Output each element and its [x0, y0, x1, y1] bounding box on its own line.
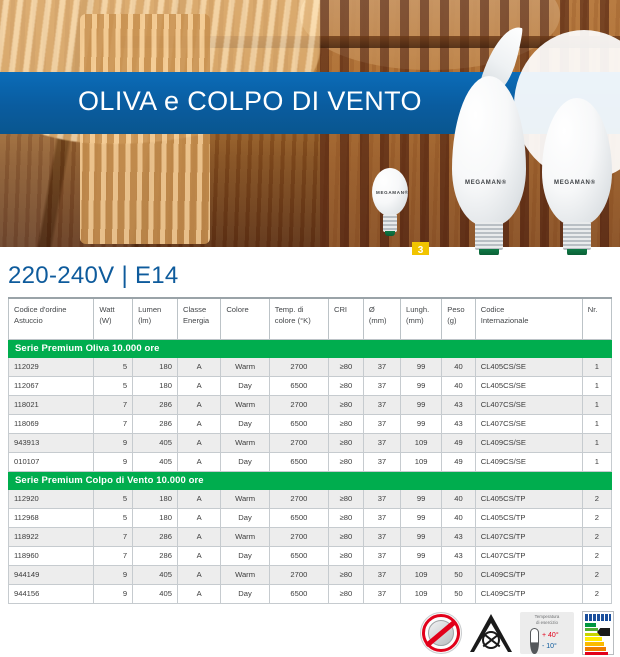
table-cell: 2700 [269, 565, 328, 584]
table-cell: 99 [400, 489, 441, 508]
table-cell: 6500 [269, 414, 328, 433]
table-cell: 180 [133, 376, 178, 395]
table-cell: 118922 [9, 527, 94, 546]
table-cell: Day [221, 584, 269, 603]
table-row: 1180217286AWarm2700≥80379943CL407CS/SE1 [9, 395, 612, 414]
table-cell: 37 [363, 489, 400, 508]
table-cell: A [177, 433, 220, 452]
table-cell: 118960 [9, 546, 94, 565]
table-cell: 50 [442, 565, 475, 584]
table-cell: 7 [94, 395, 133, 414]
table-cell: 118069 [9, 414, 94, 433]
table-column-header: CodiceInternazionale [475, 298, 582, 339]
table-cell: 1 [582, 452, 611, 471]
table-cell: 99 [400, 508, 441, 527]
table-cell: 9 [94, 565, 133, 584]
table-cell: 180 [133, 508, 178, 527]
table-cell: 2700 [269, 489, 328, 508]
table-cell: CL407CS/SE [475, 395, 582, 414]
table-row: 1129205180AWarm2700≥80379940CL405CS/TP2 [9, 489, 612, 508]
table-cell: CL409CS/SE [475, 433, 582, 452]
table-cell: A [177, 357, 220, 376]
header-line-1: Colore [226, 304, 263, 315]
table-cell: 1 [582, 357, 611, 376]
table-cell: 5 [94, 357, 133, 376]
table-cell: A [177, 395, 220, 414]
table-cell: 118021 [9, 395, 94, 414]
header-line-1: Watt [99, 304, 127, 315]
table-cell: 43 [442, 546, 475, 565]
energy-class-bar [585, 623, 596, 627]
energy-class-bar [585, 647, 606, 651]
temp-min-value: - 10° [542, 641, 559, 652]
table-cell: A [177, 489, 220, 508]
voltage-socket-title: 220-240V | E14 [8, 262, 179, 290]
table-cell: A [177, 414, 220, 433]
section-title: Serie Premium Oliva 10.000 ore [9, 339, 612, 357]
table-cell: Warm [221, 395, 269, 414]
table-cell: A [177, 452, 220, 471]
table-cell: CL407CS/TP [475, 527, 582, 546]
header-line-1: Codice [481, 304, 577, 315]
table-cell: 7 [94, 414, 133, 433]
table-cell: 40 [442, 489, 475, 508]
table-section-header-row: Serie Premium Colpo di Vento 10.000 ore [9, 471, 612, 489]
table-cell: 37 [363, 433, 400, 452]
table-cell: ≥80 [328, 489, 363, 508]
table-cell: 944156 [9, 584, 94, 603]
table-row: 1180697286ADay6500≥80379943CL407CS/SE1 [9, 414, 612, 433]
table-cell: 112029 [9, 357, 94, 376]
energy-class-bar [585, 637, 602, 641]
table-cell: 9 [94, 433, 133, 452]
table-cell: A [177, 527, 220, 546]
table-cell: CL407CS/TP [475, 546, 582, 565]
table-cell: Warm [221, 357, 269, 376]
table-cell: ≥80 [328, 508, 363, 527]
table-cell: 50 [442, 584, 475, 603]
header-line-2: (mm) [369, 315, 395, 326]
page-title: OLIVA e COLPO DI VENTO [78, 86, 422, 117]
table-cell: 6500 [269, 508, 328, 527]
energy-class-bar [585, 628, 598, 632]
bulb-brand-label: MEGAMAN® [465, 180, 507, 186]
table-cell: 2700 [269, 395, 328, 414]
table-cell: ≥80 [328, 357, 363, 376]
table-cell: 2 [582, 565, 611, 584]
table-row: 0101079405ADay6500≥803710949CL409CS/SE1 [9, 452, 612, 471]
table-cell: Day [221, 546, 269, 565]
table-cell: A [177, 508, 220, 527]
table-cell: ≥80 [328, 584, 363, 603]
table-cell: 37 [363, 527, 400, 546]
table-cell: 2 [582, 508, 611, 527]
table-cell: ≥80 [328, 452, 363, 471]
table-column-header: Lumen(lm) [133, 298, 178, 339]
table-cell: 9 [94, 452, 133, 471]
table-cell: 43 [442, 527, 475, 546]
table-cell: 1 [582, 395, 611, 414]
table-cell: CL405CS/SE [475, 376, 582, 395]
bulb-screw-base [475, 222, 503, 250]
hero-bottom-spacer [0, 247, 620, 255]
product-table-wrapper: Codice d'ordineAstuccioWatt(W)Lumen(lm)C… [8, 297, 612, 604]
table-cell: 1 [582, 414, 611, 433]
table-cell: 7 [94, 527, 133, 546]
energy-class-bar [585, 633, 600, 637]
table-cell: 99 [400, 376, 441, 395]
table-cell: 2 [582, 489, 611, 508]
table-cell: 37 [363, 452, 400, 471]
table-cell: 112920 [9, 489, 94, 508]
table-cell: 405 [133, 452, 178, 471]
table-cell: 2 [582, 584, 611, 603]
table-cell: 99 [400, 414, 441, 433]
table-row: 1189227286AWarm2700≥80379943CL407CS/TP2 [9, 527, 612, 546]
table-cell: CL405CS/TP [475, 508, 582, 527]
temp-max-value: + 40° [542, 630, 559, 641]
table-cell: ≥80 [328, 546, 363, 565]
header-line-2: (g) [447, 315, 469, 326]
not-dimmable-icon [420, 612, 462, 654]
table-column-header: Ø(mm) [363, 298, 400, 339]
table-column-header: Temp. dicolore (°K) [269, 298, 328, 339]
table-cell: 37 [363, 546, 400, 565]
table-cell: 2700 [269, 433, 328, 452]
table-column-header: Codice d'ordineAstuccio [9, 298, 94, 339]
bulb-base-tip [479, 249, 499, 255]
table-row: 1189607286ADay6500≥80379943CL407CS/TP2 [9, 546, 612, 565]
table-cell: 37 [363, 414, 400, 433]
bulb-base-tip [385, 231, 395, 236]
header-line-1: Classe [183, 304, 215, 315]
table-cell: 2700 [269, 357, 328, 376]
table-column-header: Watt(W) [94, 298, 133, 339]
table-cell: 49 [442, 433, 475, 452]
table-cell: 112968 [9, 508, 94, 527]
table-cell: 010107 [9, 452, 94, 471]
operating-temperature-icon: Temperatura di esercizio + 40° - 10° [520, 612, 574, 654]
no-electronic-switch-icon [470, 612, 512, 654]
table-cell: ≥80 [328, 433, 363, 452]
header-line-1: Nr. [588, 304, 606, 315]
table-header-row: Codice d'ordineAstuccioWatt(W)Lumen(lm)C… [9, 298, 612, 339]
table-cell: 2700 [269, 527, 328, 546]
table-cell: 5 [94, 508, 133, 527]
energy-class-bar [585, 642, 604, 646]
table-cell: 37 [363, 357, 400, 376]
table-cell: ≥80 [328, 414, 363, 433]
table-cell: CL405CS/SE [475, 357, 582, 376]
table-cell: 49 [442, 452, 475, 471]
table-cell: Warm [221, 489, 269, 508]
table-cell: 40 [442, 376, 475, 395]
table-cell: 1 [582, 376, 611, 395]
table-column-header: Lungh.(mm) [400, 298, 441, 339]
table-cell: 5 [94, 489, 133, 508]
energy-label-icon [582, 611, 614, 655]
table-cell: 37 [363, 508, 400, 527]
bulb-screw-base [563, 222, 591, 250]
table-cell: 37 [363, 395, 400, 414]
header-line-1: Peso [447, 304, 469, 315]
table-cell: 99 [400, 546, 441, 565]
table-cell: 109 [400, 584, 441, 603]
table-cell: 405 [133, 565, 178, 584]
table-cell: ≥80 [328, 565, 363, 584]
table-cell: 6500 [269, 546, 328, 565]
table-section-header-row: Serie Premium Oliva 10.000 ore [9, 339, 612, 357]
table-cell: A [177, 565, 220, 584]
temp-caption-line2: di esercizio [536, 620, 558, 625]
table-cell: 2 [582, 527, 611, 546]
table-cell: 6500 [269, 452, 328, 471]
table-cell: CL407CS/SE [475, 414, 582, 433]
table-cell: 6500 [269, 584, 328, 603]
table-cell: 40 [442, 508, 475, 527]
table-cell: ≥80 [328, 376, 363, 395]
table-cell: Warm [221, 565, 269, 584]
table-cell: 37 [363, 376, 400, 395]
header-line-1: Lumen [138, 304, 172, 315]
thermometer-icon [530, 628, 539, 654]
table-cell: Day [221, 414, 269, 433]
table-cell: 5 [94, 376, 133, 395]
table-cell: 180 [133, 489, 178, 508]
header-line-2: Energia [183, 315, 215, 326]
table-cell: 9 [94, 584, 133, 603]
table-cell: 1 [582, 433, 611, 452]
table-cell: CL409CS/TP [475, 584, 582, 603]
table-cell: 7 [94, 546, 133, 565]
table-cell: 286 [133, 414, 178, 433]
table-cell: A [177, 546, 220, 565]
header-line-1: Codice d'ordine [14, 304, 88, 315]
header-line-2: Astuccio [14, 315, 88, 326]
table-cell: 286 [133, 546, 178, 565]
energy-class-bar [585, 652, 608, 656]
temp-caption-line1: Temperatura [535, 614, 560, 619]
table-column-header: Peso(g) [442, 298, 475, 339]
table-cell: 2 [582, 546, 611, 565]
table-cell: Warm [221, 433, 269, 452]
table-cell: 109 [400, 433, 441, 452]
table-body: Serie Premium Oliva 10.000 ore1120295180… [9, 339, 612, 603]
bulb-screw-base [383, 214, 397, 232]
table-cell: 40 [442, 357, 475, 376]
header-line-2: (lm) [138, 315, 172, 326]
table-row: 1120295180AWarm2700≥80379940CL405CS/SE1 [9, 357, 612, 376]
section-title: Serie Premium Colpo di Vento 10.000 ore [9, 471, 612, 489]
table-cell: 405 [133, 584, 178, 603]
table-cell: 109 [400, 452, 441, 471]
table-cell: CL409CS/TP [475, 565, 582, 584]
header-line-1: CRI [334, 304, 358, 315]
table-header: Codice d'ordineAstuccioWatt(W)Lumen(lm)C… [9, 298, 612, 339]
table-column-header: Colore [221, 298, 269, 339]
table-cell: Day [221, 452, 269, 471]
table-column-header: CRI [328, 298, 363, 339]
table-cell: Day [221, 508, 269, 527]
product-table: Codice d'ordineAstuccioWatt(W)Lumen(lm)C… [8, 297, 612, 604]
table-cell: 944149 [9, 565, 94, 584]
header-line-2: (mm) [406, 315, 436, 326]
table-cell: 99 [400, 395, 441, 414]
table-cell: A [177, 376, 220, 395]
header-line-1: Lungh. [406, 304, 436, 315]
bulb-brand-label: MEGAMAN® [376, 190, 409, 195]
table-cell: ≥80 [328, 527, 363, 546]
table-cell: 286 [133, 395, 178, 414]
table-cell: 43 [442, 414, 475, 433]
table-cell: 112067 [9, 376, 94, 395]
header-line-2: colore (°K) [275, 315, 323, 326]
table-cell: 109 [400, 565, 441, 584]
table-cell: 37 [363, 584, 400, 603]
footer-icon-strip: Temperatura di esercizio + 40° - 10° [0, 609, 620, 657]
table-cell: CL409CS/SE [475, 452, 582, 471]
table-cell: 99 [400, 527, 441, 546]
bulb-badge-3: 3 [412, 242, 429, 255]
table-column-header: ClasseEnergia [177, 298, 220, 339]
table-row: 9441569405ADay6500≥803710950CL409CS/TP2 [9, 584, 612, 603]
table-row: 9441499405AWarm2700≥803710950CL409CS/TP2 [9, 565, 612, 584]
table-cell: 180 [133, 357, 178, 376]
table-cell: ≥80 [328, 395, 363, 414]
bulb-base-tip [567, 249, 587, 255]
header-line-1: Temp. di [275, 304, 323, 315]
table-row: 1120675180ADay6500≥80379940CL405CS/SE1 [9, 376, 612, 395]
table-cell: 943913 [9, 433, 94, 452]
table-column-header: Nr. [582, 298, 611, 339]
table-row: 9439139405AWarm2700≥803710949CL409CS/SE1 [9, 433, 612, 452]
table-cell: CL405CS/TP [475, 489, 582, 508]
table-cell: A [177, 584, 220, 603]
table-cell: 286 [133, 527, 178, 546]
bulb-brand-label: MEGAMAN® [554, 180, 596, 186]
table-cell: 37 [363, 565, 400, 584]
table-cell: Day [221, 376, 269, 395]
header-line-1: Ø [369, 304, 395, 315]
table-cell: 43 [442, 395, 475, 414]
hero-banner: OLIVA e COLPO DI VENTO MEGAMAN® 3 MEGAMA… [0, 0, 620, 255]
header-line-2: (W) [99, 315, 127, 326]
header-line-2: Internazionale [481, 315, 577, 326]
table-cell: 99 [400, 357, 441, 376]
table-cell: 405 [133, 433, 178, 452]
table-row: 1129685180ADay6500≥80379940CL405CS/TP2 [9, 508, 612, 527]
table-cell: 6500 [269, 376, 328, 395]
table-cell: Warm [221, 527, 269, 546]
